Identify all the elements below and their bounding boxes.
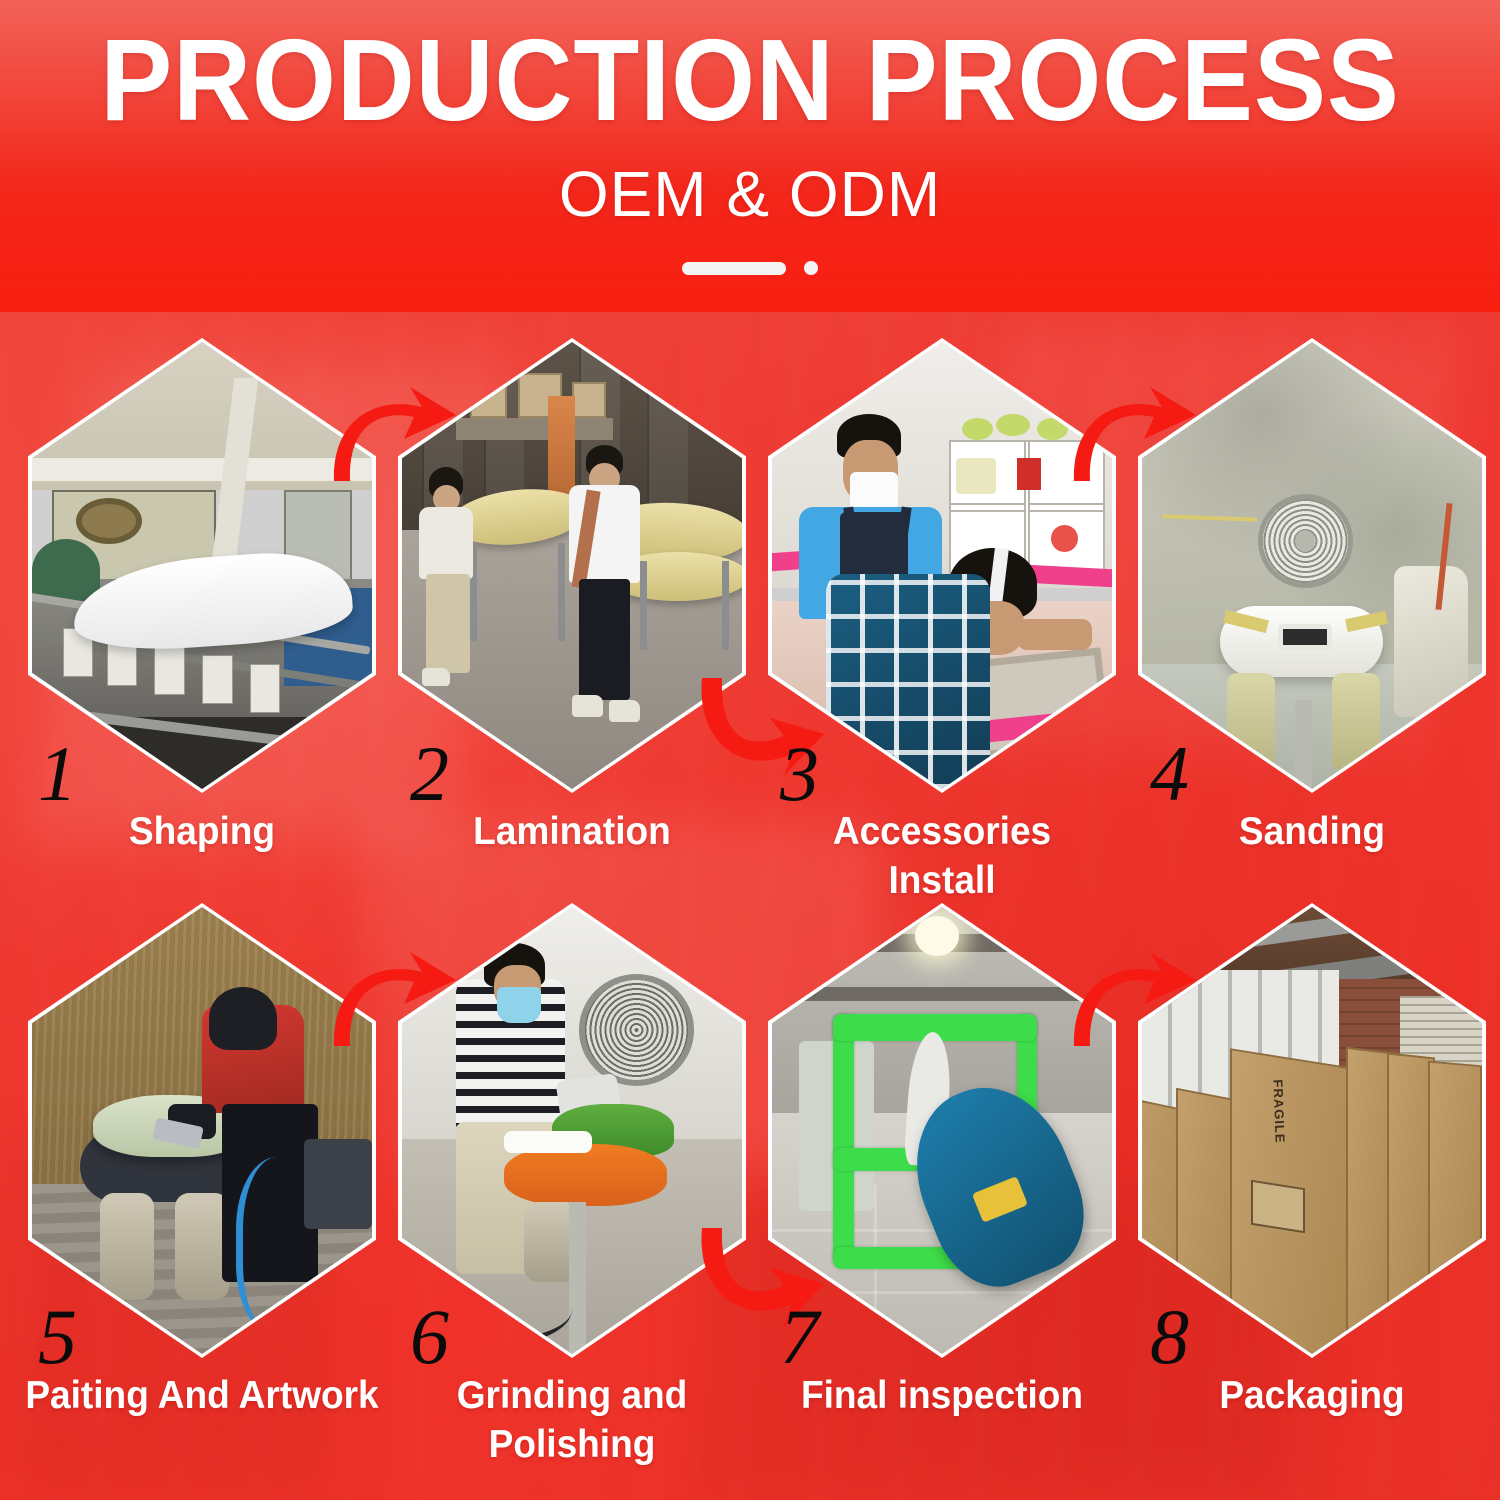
step-number-7: 7 <box>780 1298 819 1376</box>
header-divider <box>0 258 1500 278</box>
step-label-6: Grinding and Polishing <box>407 1372 738 1470</box>
step-number-8: 8 <box>1150 1298 1189 1376</box>
production-process-poster: PRODUCTION PROCESS OEM & ODM <box>0 0 1500 1500</box>
page-title: PRODUCTION PROCESS <box>53 22 1448 138</box>
step-label-7: Final inspection <box>777 1372 1108 1421</box>
divider-dot-icon <box>804 261 818 275</box>
step-label-2: Lamination <box>407 808 738 857</box>
divider-bar-icon <box>682 262 786 275</box>
step-label-3: Accessories Install <box>777 808 1108 906</box>
step-number-3: 3 <box>780 735 819 813</box>
page-subtitle: OEM & ODM <box>0 162 1500 226</box>
step-label-4: Sanding <box>1147 808 1478 857</box>
step-label-8: Packaging <box>1147 1372 1478 1421</box>
header-banner: PRODUCTION PROCESS OEM & ODM <box>0 0 1500 312</box>
step-number-2: 2 <box>410 735 449 813</box>
step-number-4: 4 <box>1150 735 1189 813</box>
step-label-5: Paiting And Artwork <box>18 1372 387 1421</box>
step-number-1: 1 <box>38 735 77 813</box>
step-label-1: Shaping <box>37 808 368 857</box>
step-number-5: 5 <box>38 1298 77 1376</box>
step-number-6: 6 <box>410 1298 449 1376</box>
